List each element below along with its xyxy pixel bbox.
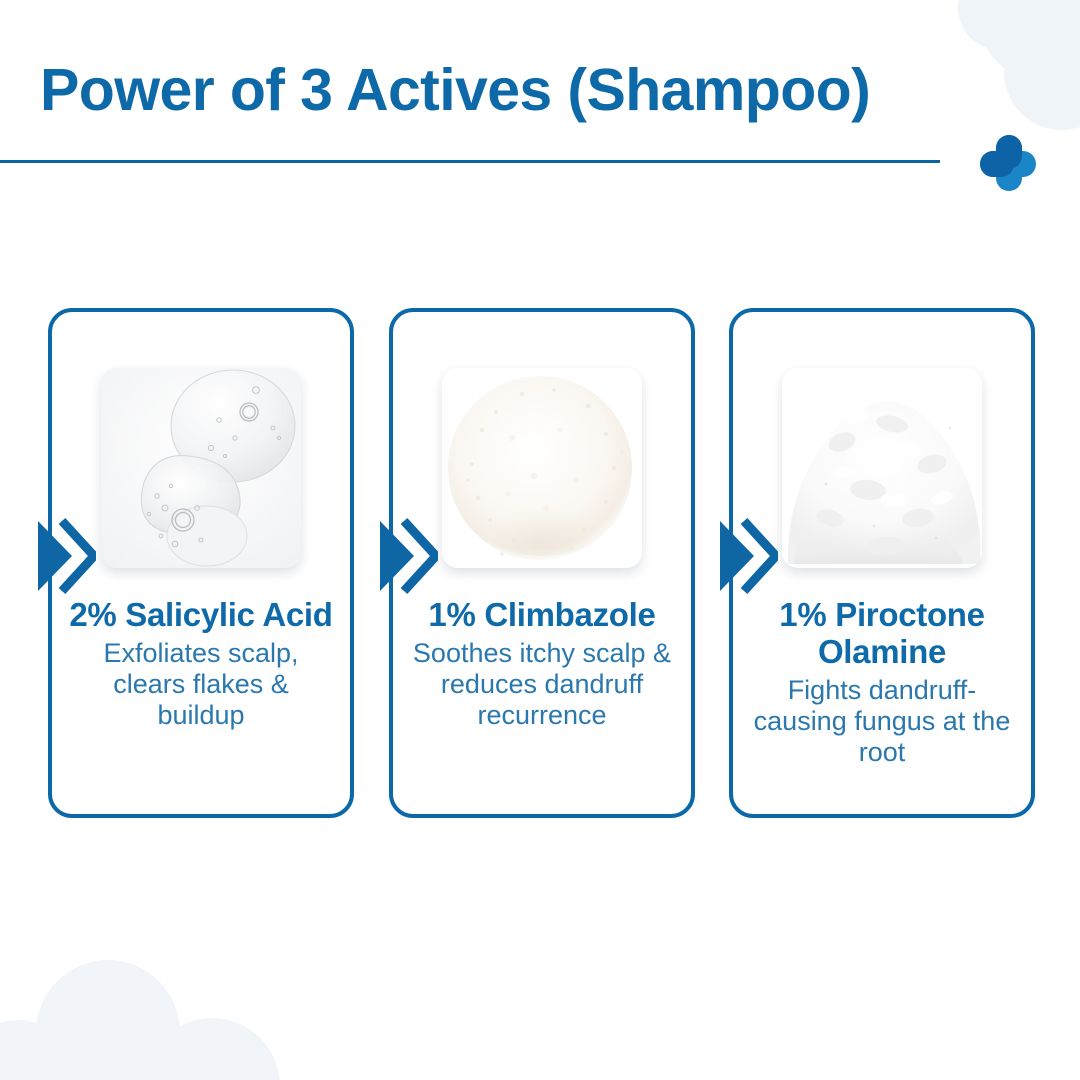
card-title: 2% Salicylic Acid bbox=[57, 596, 344, 633]
card-description: Exfoliates scalp, clears flakes & buildu… bbox=[52, 638, 350, 731]
infographic-canvas: Power of 3 Actives (Shampoo) bbox=[0, 0, 1080, 1080]
step-arrow-icon bbox=[714, 515, 778, 597]
card-title: 1% Climbazole bbox=[416, 596, 667, 633]
white-granular-powder-photo bbox=[442, 368, 642, 568]
plus-badge-icon bbox=[980, 135, 1036, 191]
card-description: Soothes itchy scalp & reduces dandruff r… bbox=[393, 638, 691, 731]
header: Power of 3 Actives (Shampoo) bbox=[0, 52, 1080, 172]
bottom-left-cloud-blob bbox=[0, 960, 280, 1080]
step-arrow-icon bbox=[32, 515, 96, 597]
title-divider bbox=[0, 160, 940, 163]
clear-gel-droplets-photo bbox=[101, 368, 301, 568]
card-description: Fights dandruff-causing fungus at the ro… bbox=[733, 675, 1031, 768]
step-arrow-icon bbox=[374, 515, 438, 597]
fine-white-powder-photo bbox=[782, 368, 982, 568]
page-title: Power of 3 Actives (Shampoo) bbox=[40, 52, 870, 128]
actives-card-row: 2% Salicylic Acid Exfoliates scalp, clea… bbox=[0, 308, 1080, 822]
card-title: 1% Piroctone Olamine bbox=[733, 596, 1031, 670]
